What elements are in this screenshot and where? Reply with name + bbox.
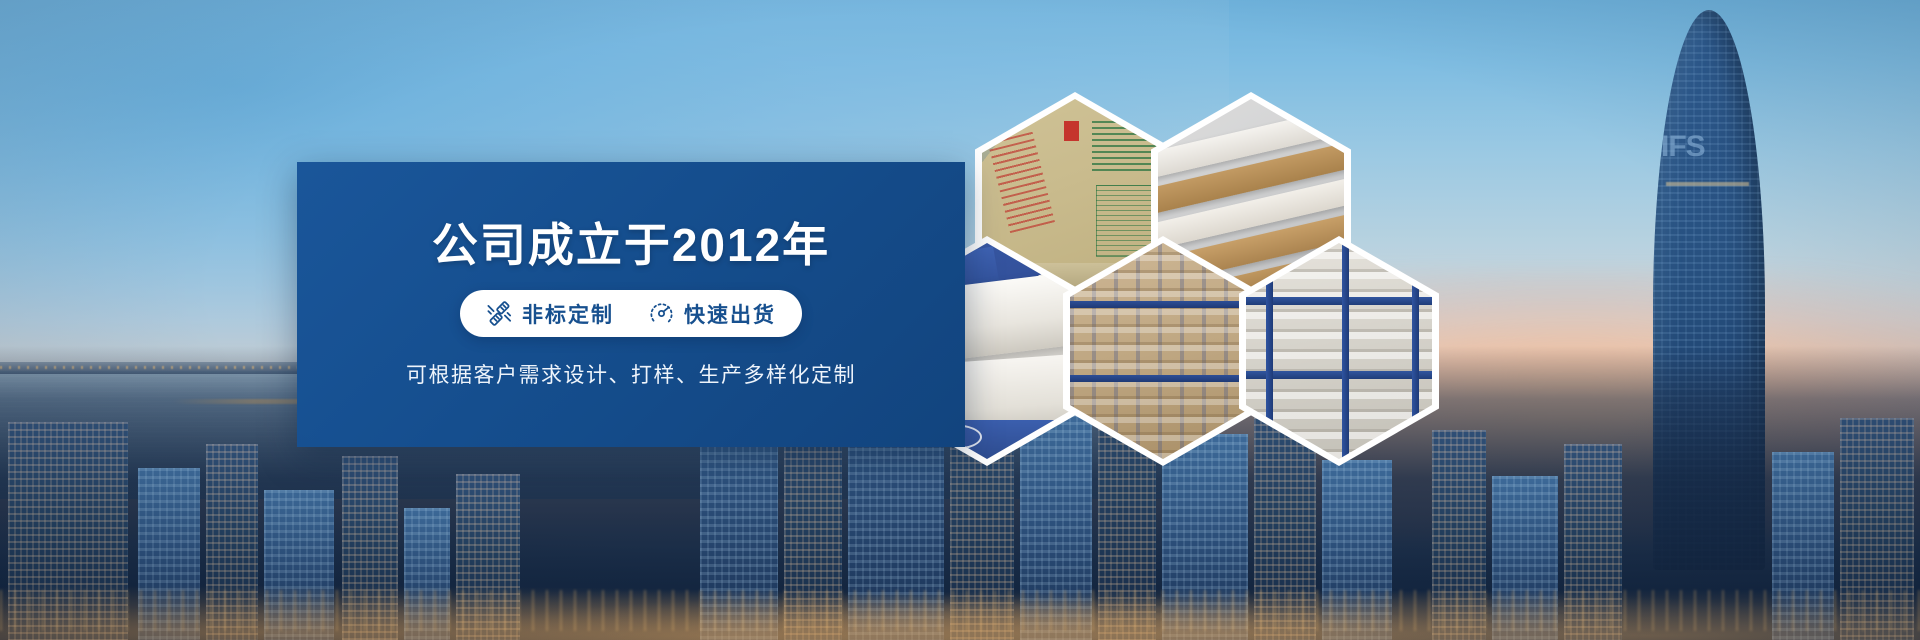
- badge-custom-manufacturing[interactable]: 非标定制: [486, 299, 614, 329]
- tower-light-band: [1666, 182, 1749, 186]
- badge-label: 非标定制: [522, 299, 614, 329]
- company-hero-banner: IFS: [0, 0, 1920, 640]
- rulers-icon: [486, 300, 513, 327]
- panel-subtitle: 可根据客户需求设计、打样、生产多样化定制: [406, 359, 856, 389]
- hex-photo-cluster: [975, 92, 1535, 522]
- feature-badge-pill: 非标定制 快速出货: [460, 290, 802, 337]
- badge-label: 快速出货: [684, 299, 776, 329]
- badge-fast-shipping[interactable]: 快速出货: [648, 299, 776, 329]
- tower-sign-text: IFS: [1661, 130, 1705, 164]
- page-title: 公司成立于2012年: [432, 220, 830, 271]
- hero-content-panel: 公司成立于2012年 非标定制: [297, 162, 965, 447]
- street-lights: [0, 590, 1920, 631]
- speedometer-icon: [648, 300, 675, 327]
